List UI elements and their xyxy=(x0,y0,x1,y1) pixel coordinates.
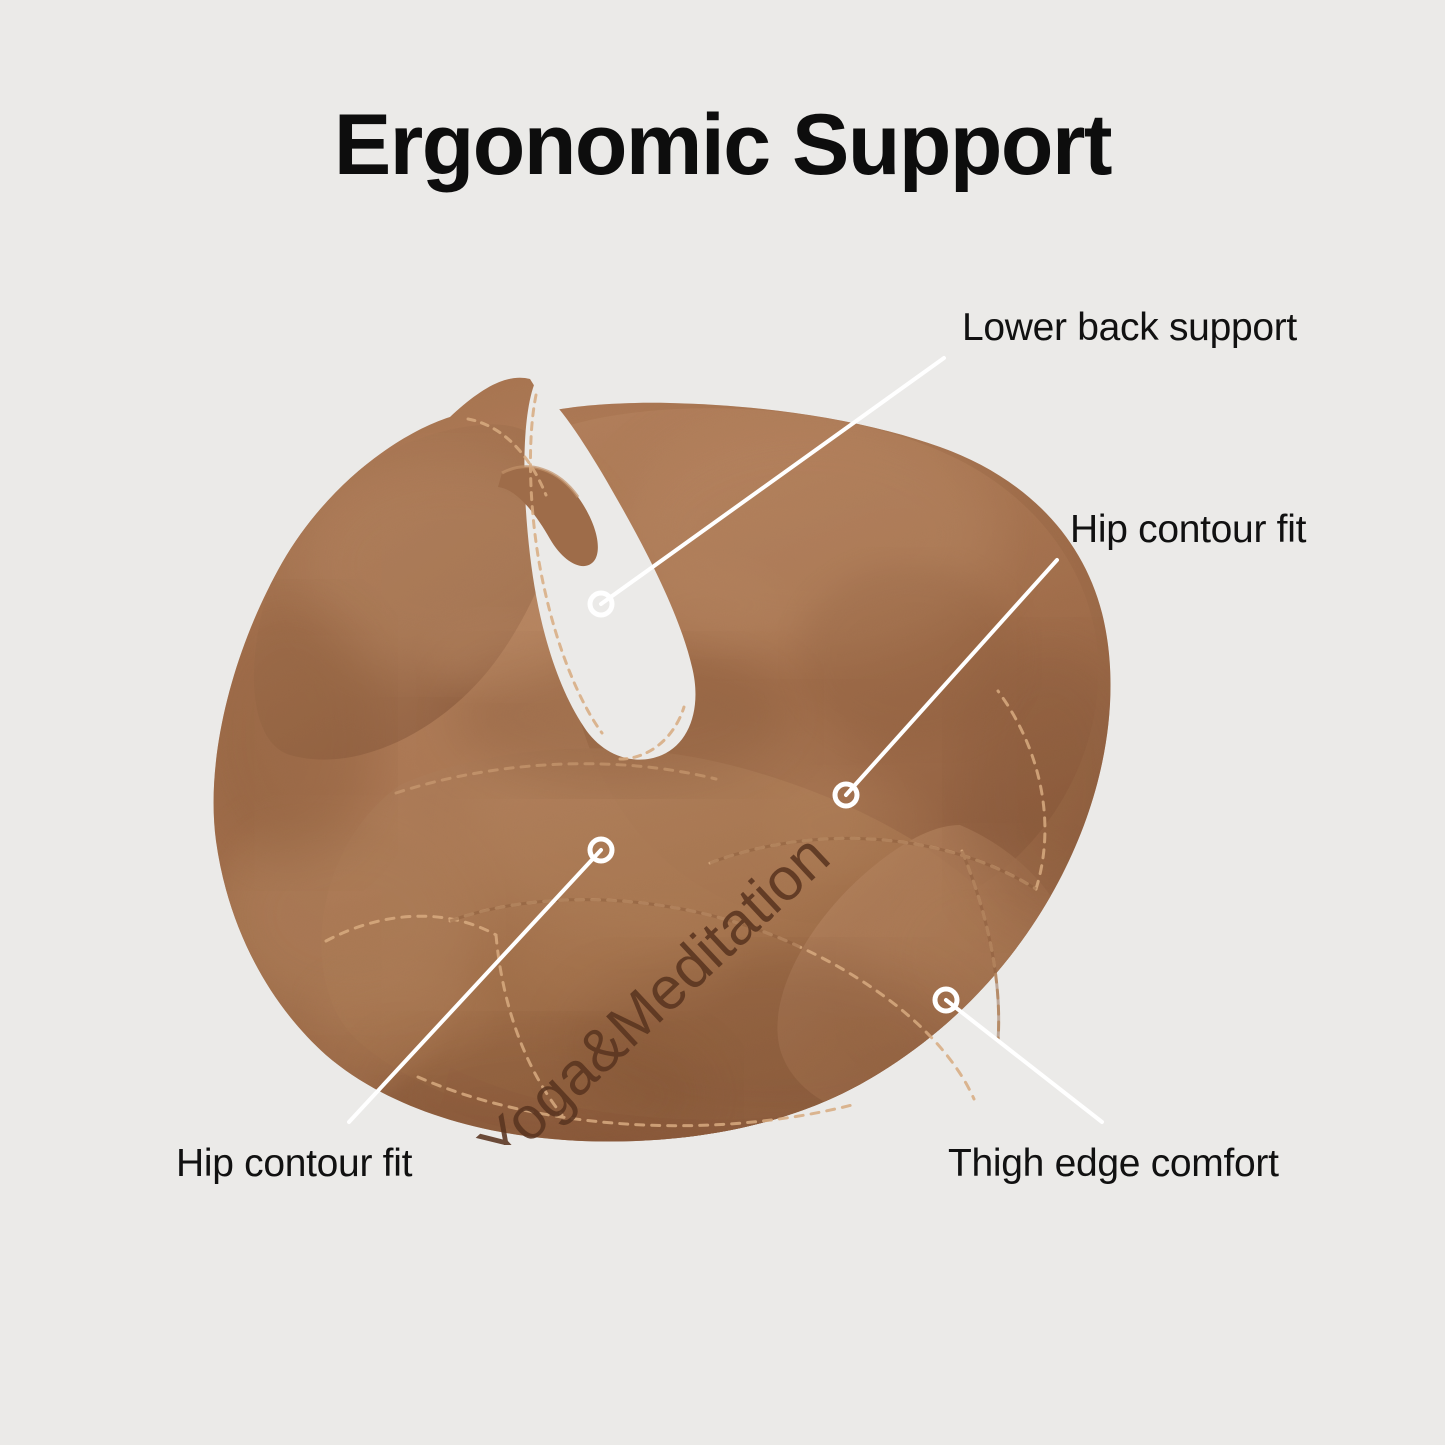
page-title: Ergonomic Support xyxy=(0,96,1445,195)
callout-label-hip-right: Hip contour fit xyxy=(1070,508,1306,552)
product-image: Yoga&Meditation xyxy=(150,355,1180,1145)
callout-label-hip-left: Hip contour fit xyxy=(176,1142,412,1186)
infographic-page: Ergonomic Support xyxy=(0,0,1445,1445)
callout-label-thigh-edge: Thigh edge comfort xyxy=(948,1142,1279,1186)
cushion-body: Yoga&Meditation xyxy=(150,355,1180,1145)
callout-label-lower-back: Lower back support xyxy=(962,306,1297,350)
